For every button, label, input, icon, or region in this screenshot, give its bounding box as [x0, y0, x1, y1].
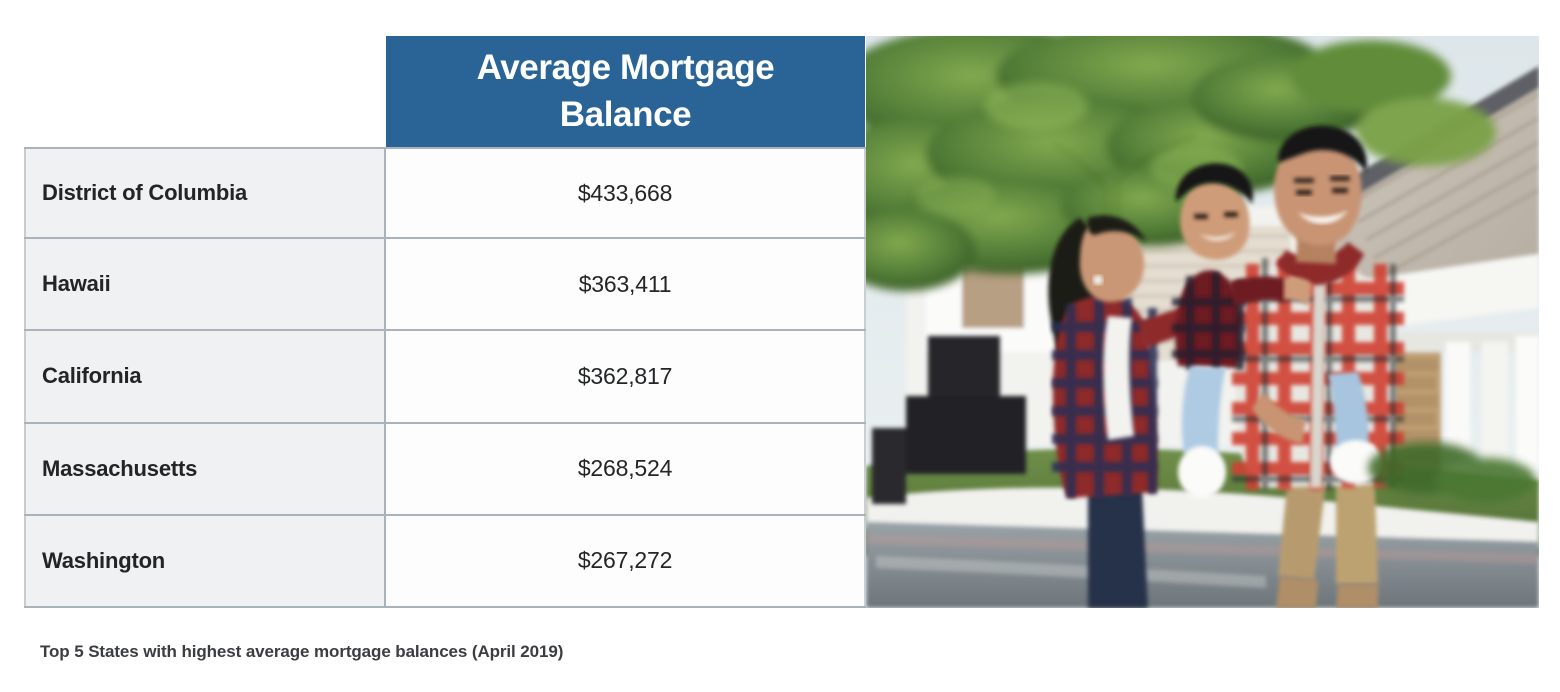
balance-value-cell: $268,524: [386, 424, 866, 514]
mortgage-balance-figure: District of Columbia $433,668 Hawaii $36…: [0, 0, 1560, 692]
photo-artwork: [866, 36, 1539, 608]
state-name-cell: District of Columbia: [24, 149, 386, 237]
table-row: Hawaii $363,411: [24, 239, 866, 331]
balance-value-cell: $362,817: [386, 331, 866, 421]
mortgage-balance-table: District of Columbia $433,668 Hawaii $36…: [24, 147, 866, 608]
table-row: District of Columbia $433,668: [24, 147, 866, 239]
balance-value-cell: $363,411: [386, 239, 866, 329]
family-house-photo: [866, 36, 1539, 608]
balance-value-cell: $267,272: [386, 516, 866, 606]
figure-caption: Top 5 States with highest average mortga…: [40, 642, 563, 662]
table-row: California $362,817: [24, 331, 866, 423]
balance-value-cell: $433,668: [386, 149, 866, 237]
state-name-cell: California: [24, 331, 386, 421]
state-name-cell: Hawaii: [24, 239, 386, 329]
table-row: Washington $267,272: [24, 516, 866, 608]
state-name-cell: Washington: [24, 516, 386, 606]
table-row: Massachusetts $268,524: [24, 424, 866, 516]
table-column-header: Average Mortgage Balance: [386, 36, 865, 147]
state-name-cell: Massachusetts: [24, 424, 386, 514]
